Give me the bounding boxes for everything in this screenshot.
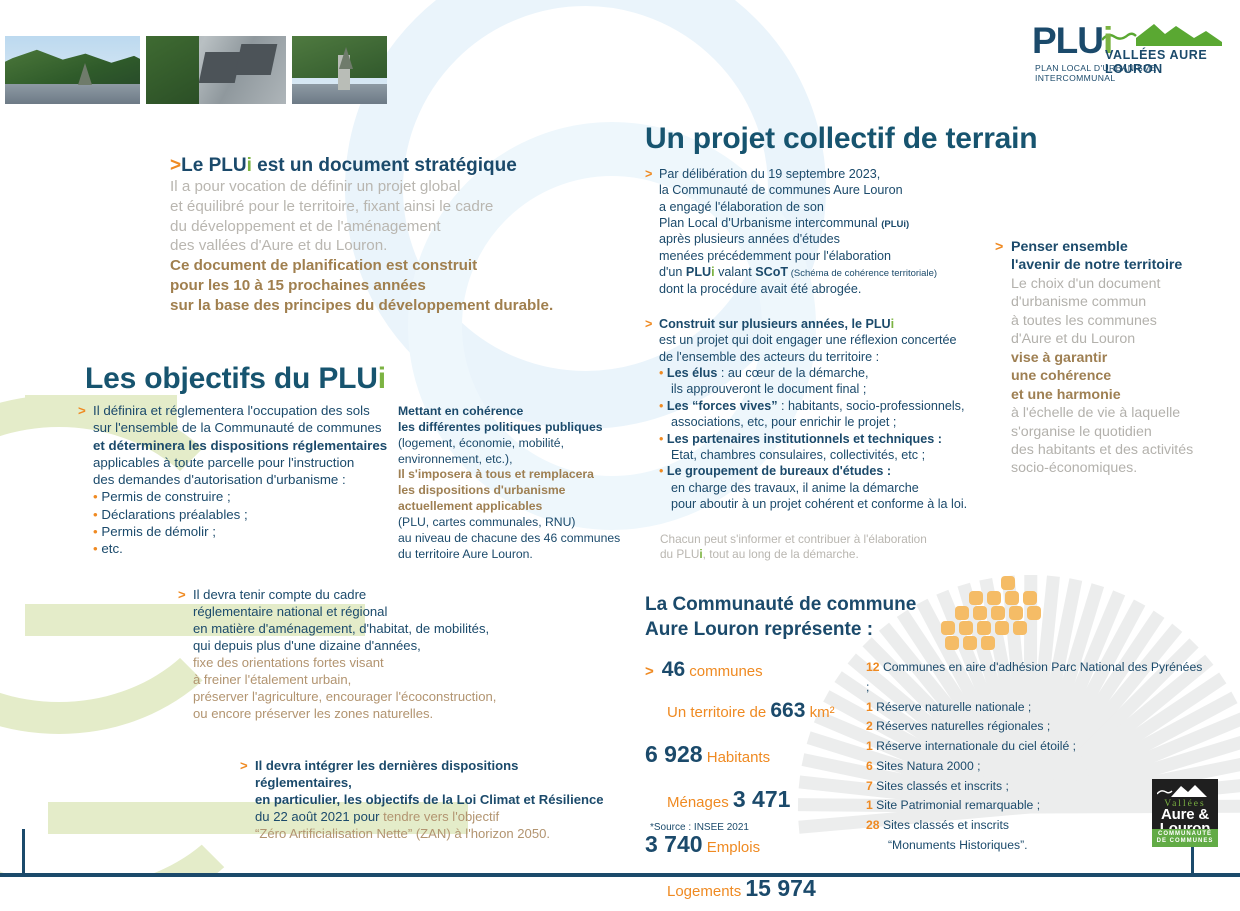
photo-strip: [5, 36, 387, 104]
block-deliberation: > Par délibération du 19 septembre 2023,…: [645, 166, 975, 297]
arrow-icon: >: [645, 316, 652, 334]
list-item: 1 Réserve naturelle nationale ;: [866, 698, 1206, 718]
bullet-icon: •: [659, 366, 667, 380]
arrow-icon: >: [78, 402, 86, 421]
bullet-icon: •: [659, 464, 667, 478]
dot: [963, 636, 977, 650]
dot: [1023, 591, 1037, 605]
block-objectif-3: > Il devra intégrer les dernières dispos…: [240, 757, 610, 842]
stats-source-note: *Source : INSEE 2021: [650, 822, 749, 833]
logo-tagline: PLAN LOCAL D'URBANISME INTERCOMMUNAL: [1035, 63, 1224, 83]
block-objectif-2: > Il devra tenir compte du cadre régleme…: [178, 586, 518, 722]
photo-toiture-ardoise: [146, 36, 286, 104]
photo-eglise-village: [292, 36, 387, 104]
block-construit: > Construit sur plusieurs années, le PLU…: [645, 316, 980, 512]
list-item: 2 Réserves naturelles régionales ;: [866, 717, 1206, 737]
list-item: 1 Réserve internationale du ciel étoilé …: [866, 737, 1206, 757]
block-plui-strategique: >Le PLUi est un document stratégique Il …: [170, 155, 590, 315]
list-item: 12 Communes en aire d'adhésion Parc Nati…: [866, 658, 1206, 698]
list-item: • Permis de construire ;: [93, 488, 398, 505]
stat-row: 6 928 Habitants: [645, 732, 860, 777]
list-item: • Les “forces vives” : habitants, socio-…: [659, 398, 980, 414]
arrow-icon: >: [995, 238, 1003, 257]
dot: [973, 606, 987, 620]
plui-logo: PLUi VALLÉES AURE LOURON PLAN LOCAL D'UR…: [1032, 22, 1224, 74]
orange-dots-pattern: [925, 576, 1035, 646]
dot: [1009, 606, 1023, 620]
stats-list: >46 communes Un territoire de 663 km² 6 …: [645, 650, 860, 911]
arrow-icon: >: [170, 155, 181, 177]
dot: [1013, 621, 1027, 635]
list-item: 6 Sites Natura 2000 ;: [866, 757, 1206, 777]
dot: [1001, 576, 1015, 590]
dot: [977, 621, 991, 635]
bottom-rule: [0, 873, 1240, 877]
logo-wordmark: PLUi: [1032, 22, 1112, 59]
block-body-strategique: Il a pour vocation de définir un projet …: [170, 177, 590, 256]
list-item: • Le groupement de bureaux d'études :: [659, 463, 980, 479]
dot: [945, 636, 959, 650]
stat-row: Ménages 3 471: [645, 777, 860, 822]
arrow-icon: >: [240, 757, 248, 775]
dot: [991, 606, 1005, 620]
arrow-icon: >: [645, 166, 652, 184]
dot: [955, 606, 969, 620]
list-item: • etc.: [93, 540, 398, 557]
block-title-strategique: >Le PLUi est un document stratégique: [170, 155, 590, 177]
left-tick-rule: [22, 829, 25, 877]
section-title-objectifs: Les objectifs du PLUi: [85, 362, 386, 396]
block-emphasis-strategique: Ce document de planification est constru…: [170, 256, 590, 315]
logo-cc-text: COMMUNAUTÉ DE COMMUNES: [1152, 829, 1218, 847]
list-item: • Les partenaires institutionnels et tec…: [659, 431, 980, 447]
dot: [987, 591, 1001, 605]
dot: [981, 636, 995, 650]
dot: [995, 621, 1009, 635]
bullet-icon: •: [659, 399, 667, 413]
block-objectif-1: > Il définira et réglementera l'occupati…: [78, 402, 398, 558]
aure-louron-logo: Vallées Aure & Louron COMMUNAUTÉ DE COMM…: [1152, 779, 1218, 847]
block-penser-ensemble: > Penser ensemble l'avenir de notre terr…: [995, 238, 1210, 478]
photo-village-montagne: [5, 36, 140, 104]
dot: [1005, 591, 1019, 605]
stat-row: Un territoire de 663 km²: [645, 691, 860, 732]
section-title-terrain: Un projet collectif de terrain: [645, 122, 1037, 156]
list-item: • Les élus : au cœur de la démarche,: [659, 365, 980, 381]
block-chacun: Chacun peut s'informer et contribuer à l…: [660, 532, 960, 563]
arrow-icon: >: [178, 586, 186, 604]
stats-title: La Communauté de commune Aure Louron rep…: [645, 593, 916, 642]
mountain-icon: [1157, 783, 1213, 799]
stat-row: Logements 15 974: [645, 866, 860, 911]
dot: [1027, 606, 1041, 620]
mountain-icon: [1102, 22, 1224, 48]
arrow-icon: >: [645, 657, 654, 686]
dot: [959, 621, 973, 635]
list-item: • Déclarations préalables ;: [93, 506, 398, 523]
dot: [969, 591, 983, 605]
dot: [941, 621, 955, 635]
bullet-icon: •: [659, 432, 667, 446]
block-coherence: Mettant en cohérence les différentes pol…: [398, 404, 623, 563]
stat-row: >46 communes: [645, 650, 860, 691]
list-item: • Permis de démolir ;: [93, 523, 398, 540]
